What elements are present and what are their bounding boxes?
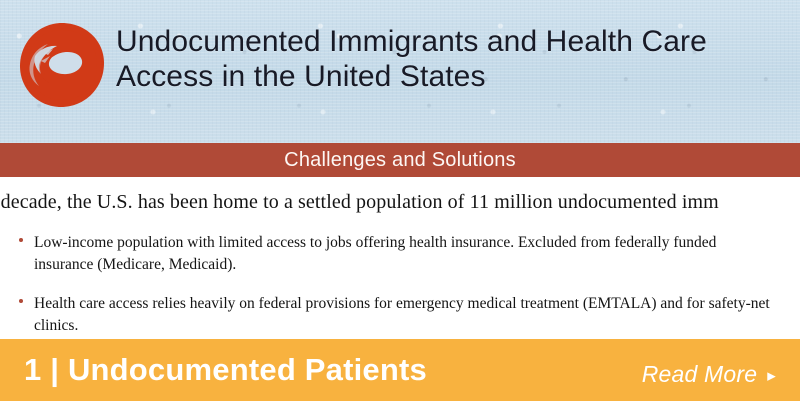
slide-header: Undocumented Immigrants and Health Care …: [0, 0, 800, 143]
read-more-label: Read More: [642, 361, 758, 388]
section-banner-text: Challenges and Solutions: [284, 149, 516, 172]
page-title: Undocumented Immigrants and Health Care …: [116, 24, 792, 95]
lead-paragraph: st decade, the U.S. has been home to a s…: [0, 191, 800, 214]
section-banner: Challenges and Solutions: [0, 143, 800, 177]
list-item: Health care access relies heavily on fed…: [18, 293, 778, 337]
caret-right-icon: ▸: [767, 367, 776, 384]
read-more-button[interactable]: Read More ▸: [642, 361, 776, 388]
list-item: Low-income population with limited acces…: [18, 232, 778, 276]
slide-footer: 1 | Undocumented Patients Read More ▸: [0, 339, 800, 401]
list-item-text: Health care access relies heavily on fed…: [34, 295, 770, 334]
bullet-list: Low-income population with limited acces…: [18, 232, 778, 354]
bullet-dot-icon: [19, 299, 23, 303]
slide: Undocumented Immigrants and Health Care …: [0, 0, 800, 401]
footer-section-label: 1 | Undocumented Patients: [24, 352, 427, 388]
bullet-dot-icon: [19, 238, 23, 242]
list-item-text: Low-income population with limited acces…: [34, 234, 716, 273]
brush-swirl-logo: [17, 20, 107, 110]
